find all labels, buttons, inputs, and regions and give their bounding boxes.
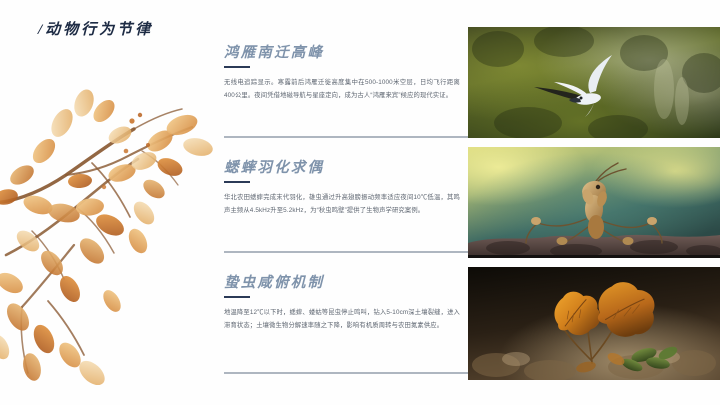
section-divider	[224, 251, 472, 253]
page-title: /动物行为节律	[38, 18, 153, 39]
section-heading: 蛰虫咸俯机制	[224, 274, 462, 292]
goose-in-flight-photo	[468, 27, 720, 138]
section-body-text: 华北农田蟋蟀完成末代羽化，雄虫通过升高翅膀振动频率适应夜间10℃低温，其鸣声主频…	[224, 192, 460, 217]
section-divider	[224, 372, 472, 374]
content-section: 蛰虫咸俯机制 地温降至12℃以下时，蟋蟀、蝼蛄等昆虫停止鸣叫，钻入5-10cm深…	[224, 274, 462, 332]
heading-accent-rule	[224, 296, 250, 298]
heading-accent-rule	[224, 181, 250, 183]
content-column: 鸿雁南迁高峰 无线电追踪显示。寒露前后鸿雁迁徙高度集中在500-1000米空层，…	[224, 28, 462, 388]
branch-stems	[0, 109, 192, 373]
section-heading: 蟋蟀羽化求偶	[224, 159, 462, 177]
content-section: 蟋蟀羽化求偶 华北农田蟋蟀完成末代羽化，雄虫通过升高翅膀振动频率适应夜间10℃低…	[224, 159, 462, 217]
autumn-oak-leaves-photo	[468, 267, 720, 380]
content-section: 鸿雁南迁高峰 无线电追踪显示。寒露前后鸿雁迁徙高度集中在500-1000米空层，…	[224, 44, 462, 102]
heading-accent-rule	[224, 66, 250, 68]
branch-leaves	[0, 87, 214, 385]
cricket-mantis-on-branch-photo	[468, 147, 720, 258]
section-divider	[224, 136, 472, 138]
watercolor-autumn-branch	[0, 55, 227, 385]
section-body-text: 地温降至12℃以下时，蟋蟀、蝼蛄等昆虫停止鸣叫，钻入5-10cm深土壤裂缝，进入…	[224, 307, 460, 332]
section-body-text: 无线电追踪显示。寒露前后鸿雁迁徙高度集中在500-1000米空层，日均飞行距离4…	[224, 77, 460, 102]
slide-canvas: /动物行为节律 鸿雁南迁高峰 无线电追踪显示。寒露前后鸿雁迁徙高度集中在500-…	[0, 0, 720, 405]
section-heading: 鸿雁南迁高峰	[224, 44, 462, 62]
